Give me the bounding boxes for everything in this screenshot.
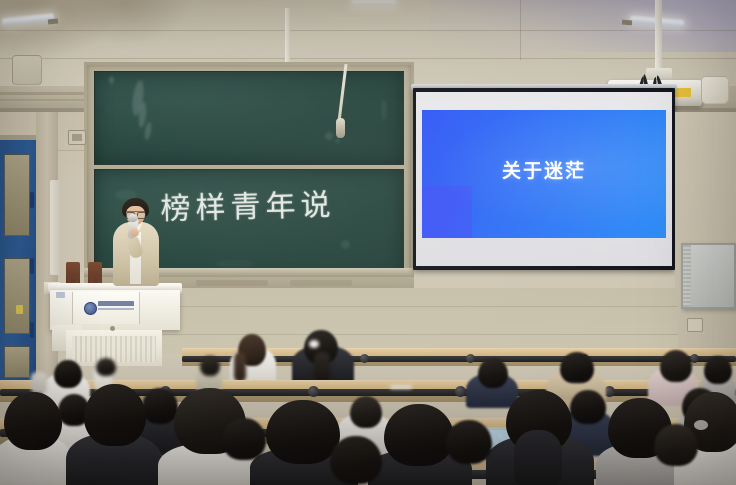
student-head: [478, 358, 508, 388]
university-seal-icon: [84, 302, 97, 315]
door-sticker: [16, 305, 23, 314]
door-window-upper: [4, 154, 30, 236]
microphone-head: [128, 214, 138, 222]
student-hair-strand: [314, 352, 330, 382]
ceiling-panel-seam: [0, 30, 736, 31]
podium-vent-grille: [72, 336, 156, 362]
student-hair-strand: [234, 352, 246, 382]
wall-outlet-left[interactable]: [68, 130, 86, 145]
wall-outlet-right[interactable]: [687, 318, 703, 332]
student-head: [200, 356, 220, 376]
fluorescent-tube-light: [352, 0, 396, 5]
door-hinge: [30, 192, 34, 208]
chalk-tray-shadow: [196, 280, 268, 286]
speaker-hand: [130, 228, 139, 237]
student-head: [54, 360, 82, 388]
blackboard-panel-upper: [94, 71, 404, 165]
student-head: [222, 418, 266, 460]
student-head: [560, 352, 594, 384]
student-head: [660, 350, 692, 382]
door-window-middle: [4, 258, 30, 334]
pen-on-desk: [390, 385, 412, 389]
door-hinge: [30, 322, 34, 338]
desk-hook: [308, 386, 319, 397]
lecture-hall-photo: 榜样青年说 关于迷茫: [0, 0, 736, 485]
door-window-lower: [4, 346, 30, 378]
slide-title-text: 关于迷茫: [422, 156, 666, 183]
fluorescent-tube-end: [622, 20, 632, 26]
wifi-access-point: [701, 76, 729, 104]
projection-screen-frame: 关于迷茫: [413, 88, 675, 270]
desk-hook: [466, 354, 475, 363]
hair-clip: [309, 340, 319, 348]
podium-side-badge: [56, 292, 65, 298]
university-name-engraving: [98, 301, 134, 313]
classroom-door[interactable]: [0, 140, 36, 380]
ceiling-light-tint: [430, 0, 736, 52]
wall-conduit: [50, 180, 60, 275]
student-head: [330, 436, 382, 484]
student-ponytail: [514, 430, 562, 485]
notice-board-vent: [683, 245, 691, 307]
student-head: [350, 396, 382, 428]
hair-clip: [694, 420, 708, 430]
student-head: [654, 424, 698, 466]
student-head: [570, 390, 606, 424]
student-head: [84, 384, 146, 446]
blackboard-chalk-title: 榜样青年说: [147, 184, 348, 233]
ceiling-panel-seam: [0, 58, 736, 59]
student-head: [446, 420, 492, 464]
podium-knob: [110, 326, 115, 331]
student-head: [266, 400, 340, 464]
chalk-tray-shadow: [290, 280, 352, 286]
student-head: [4, 392, 62, 450]
ceiling-water-stain-secondary: [60, 0, 190, 44]
right-wall: [675, 112, 736, 352]
student-head: [704, 356, 732, 384]
ceiling-panel-seam: [520, 0, 521, 60]
projected-slide: 关于迷茫: [422, 110, 666, 238]
fluorescent-tube-end: [48, 18, 58, 24]
student-head: [96, 358, 116, 376]
desk-hook: [455, 386, 466, 397]
student-body: [31, 372, 47, 394]
hanging-microphone: [336, 118, 345, 138]
projector-mount-pole: [655, 0, 662, 72]
door-hinge: [30, 258, 34, 274]
wall-speaker-box: [12, 55, 42, 85]
desk-hook: [360, 354, 369, 363]
student-head: [142, 388, 178, 424]
student-head: [384, 404, 454, 466]
